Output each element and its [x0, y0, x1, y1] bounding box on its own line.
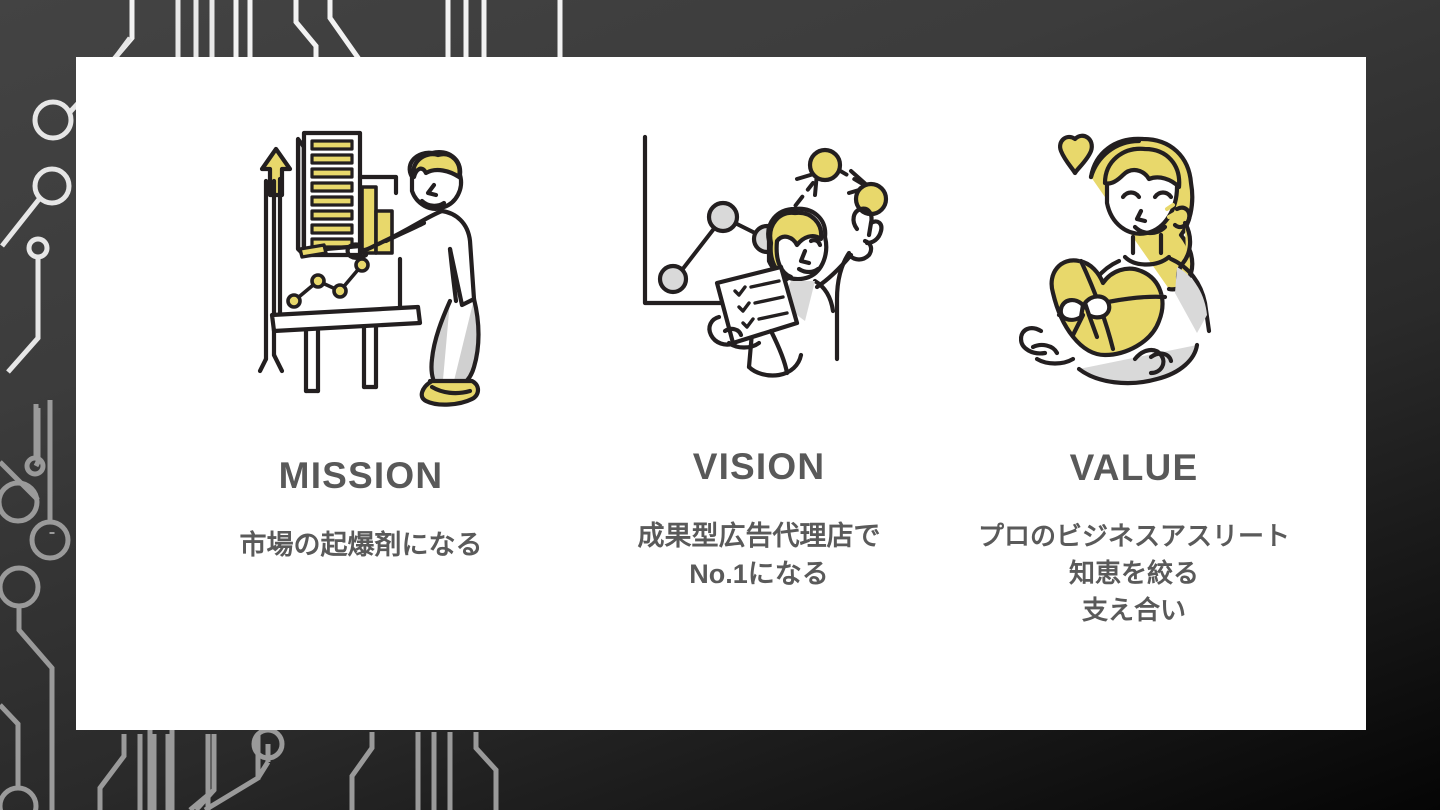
heading-mission: MISSION: [279, 457, 444, 494]
body-vision: 成果型広告代理店で No.1になる: [638, 517, 881, 594]
column-value: VALUE プロのビジネスアスリート 知恵を絞る 支え合い: [934, 117, 1334, 629]
woman-holding-heart-gift-illustration: [1019, 117, 1249, 395]
person-pointing-at-rising-graph-illustration: [619, 121, 899, 396]
mission-vision-value-columns: MISSION 市場の起爆剤になる: [76, 57, 1366, 730]
body-value: プロのビジネスアスリート 知恵を絞る 支え合い: [978, 518, 1290, 629]
column-mission: MISSION 市場の起爆剤になる: [146, 117, 576, 564]
content-card: MISSION 市場の起爆剤になる: [76, 57, 1366, 730]
column-vision: VISION 成果型広告代理店で No.1になる: [594, 117, 924, 594]
body-mission: 市場の起爆剤になる: [240, 526, 483, 564]
presenter-with-chart-easel-illustration: [236, 119, 486, 409]
slide-canvas: MISSION 市場の起爆剤になる: [0, 0, 1440, 810]
heading-value: VALUE: [1070, 449, 1199, 486]
heading-vision: VISION: [693, 448, 826, 485]
